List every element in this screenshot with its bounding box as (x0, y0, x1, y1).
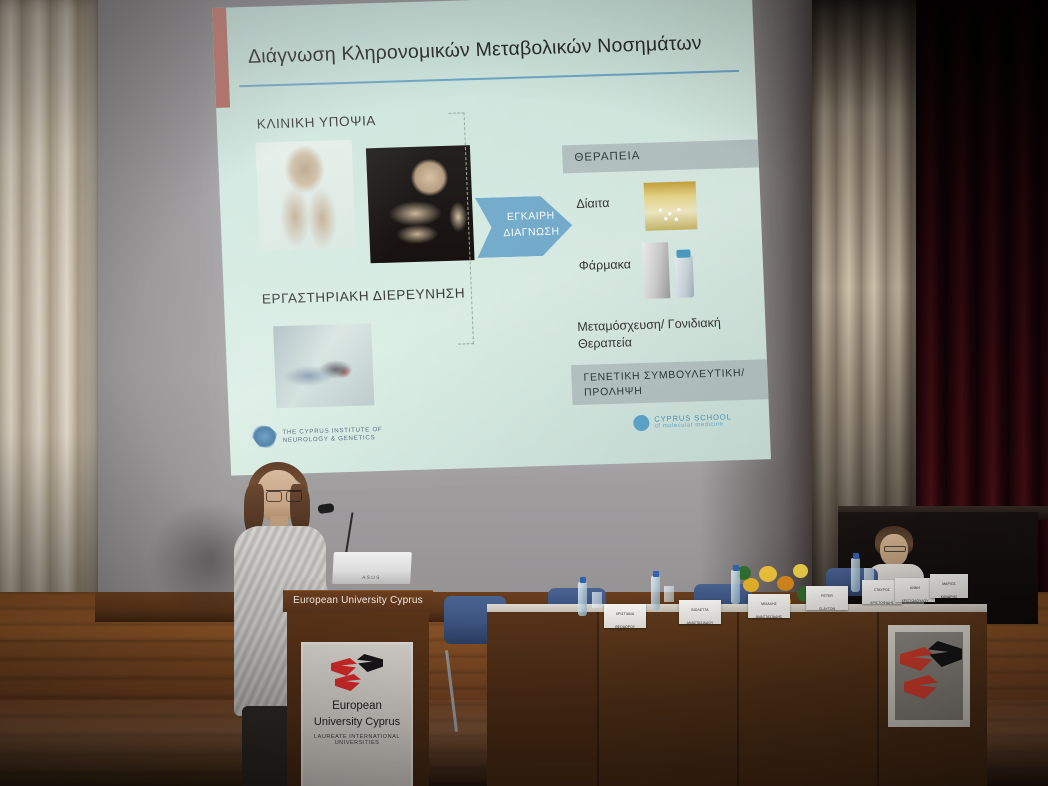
flower (793, 564, 808, 578)
lab-photo-pipetting (273, 323, 374, 408)
drinking-glass (664, 586, 674, 602)
placard-line2: ΑΝΑΣΤΑΣΙΑΔΟΥ (679, 621, 721, 624)
name-placard: ΜΙΧΑΛΗΣ ΑΝΑΣΤΑΣΙΑΔΗΣ (748, 594, 790, 618)
framed-logo-on-table (888, 625, 970, 727)
csmm-circle-icon (633, 415, 650, 431)
genetic-counselling-band: ΓΕΝΕΤΙΚΗ ΣΥΜΒΟΥΛΕΥΤΙΚΗ/ ΠΡΟΛΗΨΗ (571, 359, 771, 406)
therapy-header-label: ΘΕΡΑΠΕΙΑ (574, 150, 640, 164)
placard-line1: ΜΙΧΑΛΗΣ (748, 602, 790, 607)
podium-banner-label: European University Cyprus (283, 595, 433, 606)
placard-line1: ΑΝΝΗ (895, 586, 935, 591)
arrow-label-line2: ΔΙΑΓΝΩΣΗ (496, 225, 566, 239)
photograph-scene: Διάγνωση Κληρονομικών Μεταβολικών Νοσημά… (0, 0, 1048, 786)
slide-title-divider (239, 70, 739, 87)
placard-line1: ΜΑΡΙΟΣ (930, 582, 968, 587)
logo-swoosh-red-top (331, 658, 357, 676)
drug-vial-icon (675, 255, 695, 298)
drug-box-icon (642, 242, 670, 299)
placard-line2: ΘΕΟΔΩΡΟΥ ΚΑΡΑΓΙΑΝΝΗ (604, 625, 646, 628)
arrow-label-line1: ΕΓΚΑΙΡΗ (496, 209, 566, 223)
flower (759, 566, 777, 582)
panel-table-left-return (487, 612, 597, 762)
placard-line1: PETER (806, 594, 848, 599)
cing-logo-line2: NEUROLOGY & GENETICS (283, 434, 376, 444)
cyprus-map-icon (251, 424, 278, 449)
placard-line2: ΑΝΑΣΤΑΣΙΑΔΗΣ (748, 615, 790, 618)
name-placard: ΧΡΙΣΤΙΑΝΑ ΘΕΟΔΩΡΟΥ ΚΑΡΑΓΙΑΝΝΗ (604, 604, 646, 628)
speaker-glasses-icon (266, 490, 302, 499)
name-placard: PETER CLAYTON (806, 586, 848, 610)
name-placard: ΑΝΝΗ ΧΡΙΣΤΟΔΟΥΛΟΥ (895, 578, 935, 602)
panelist-glasses-icon (884, 546, 906, 552)
water-bottle (731, 570, 740, 604)
slide-accent-bar (212, 8, 230, 108)
name-placard: ΜΑΡΙΟΣ ΚΑΝΑΡΗΣ (930, 574, 968, 598)
diet-photo-icon (644, 181, 698, 231)
slide-label-clinical-suspicion: ΚΛΙΝΙΚΗ ΥΠΟΨΙΑ (256, 113, 376, 132)
table-seam (737, 612, 739, 786)
water-bottle (851, 558, 860, 592)
clinical-photo-infant-1 (256, 140, 356, 251)
table-seam (877, 612, 879, 786)
podium-sign-panel: European University Cyprus LAUREATE INTE… (301, 642, 413, 786)
therapy-item-drugs: Φάρμακα (579, 257, 632, 273)
water-bottle (578, 582, 587, 616)
cing-logo: THE CYPRUS INSTITUTE OF NEUROLOGY & GENE… (251, 420, 412, 451)
csmm-logo-line2: of molecular medicine (654, 422, 723, 430)
laptop-brand-label: ASUS (332, 576, 410, 581)
presenter-laptop: ASUS (332, 552, 412, 584)
podium-banner: European University Cyprus (283, 590, 433, 612)
logo-swoosh-black (357, 654, 383, 672)
therapy-header-band: ΘΕΡΑΠΕΙΑ (562, 139, 771, 174)
slide-title: Διάγνωση Κληρονομικών Μεταβολικών Νοσημά… (248, 31, 719, 70)
projected-slide: Διάγνωση Κληρονομικών Μεταβολικών Νοσημά… (212, 0, 771, 476)
placard-line1: ΧΡΙΣΤΙΑΝΑ (604, 612, 646, 617)
podium-sign-line1: European (301, 700, 413, 712)
table-seam (597, 612, 599, 786)
logo-swoosh-red-bottom (335, 674, 361, 691)
csmm-logo: CYPRUS SCHOOL of molecular medicine (633, 409, 771, 438)
flower (743, 578, 759, 592)
placard-line2: ΧΡΙΣΤΟΔΟΥΛΟΥ (895, 599, 935, 602)
placard-line2: CLAYTON (806, 607, 848, 610)
placard-line2: ΚΑΝΑΡΗΣ (930, 595, 968, 598)
therapy-item-transplant: Μεταμόσχευση/ Γονιδιακή Θεραπεία (577, 313, 758, 352)
flower (777, 576, 794, 591)
therapy-item-diet: Δίαιτα (576, 196, 610, 211)
placard-line1: ΒΙΟΛΕΤΤΑ (679, 608, 721, 613)
early-diagnosis-arrow: ΕΓΚΑΙΡΗ ΔΙΑΓΝΩΣΗ (475, 195, 573, 258)
podium-sign-line2: University Cyprus (301, 716, 413, 728)
lectern-podium: European University Cyprus European Univ… (283, 590, 433, 786)
genetic-counselling-label: ΓΕΝΕΤΙΚΗ ΣΥΜΒΟΥΛΕΥΤΙΚΗ/ ΠΡΟΛΗΨΗ (583, 365, 771, 402)
water-bottle (651, 576, 660, 610)
chair-leg (445, 650, 458, 732)
podium-sign-line3: LAUREATE INTERNATIONAL UNIVERSITIES (301, 734, 413, 746)
podium-body: European University Cyprus LAUREATE INTE… (287, 612, 429, 786)
european-university-cyprus-logo-icon (331, 652, 383, 694)
drinking-glass (592, 592, 602, 608)
slide-label-lab-investigation: ΕΡΓΑΣΤΗΡΙΑΚΗ ΔΙΕΡΕΥΝΗΣΗ (262, 285, 466, 306)
name-placard: ΒΙΟΛΕΤΤΑ ΑΝΑΣΤΑΣΙΑΔΟΥ (679, 600, 721, 624)
